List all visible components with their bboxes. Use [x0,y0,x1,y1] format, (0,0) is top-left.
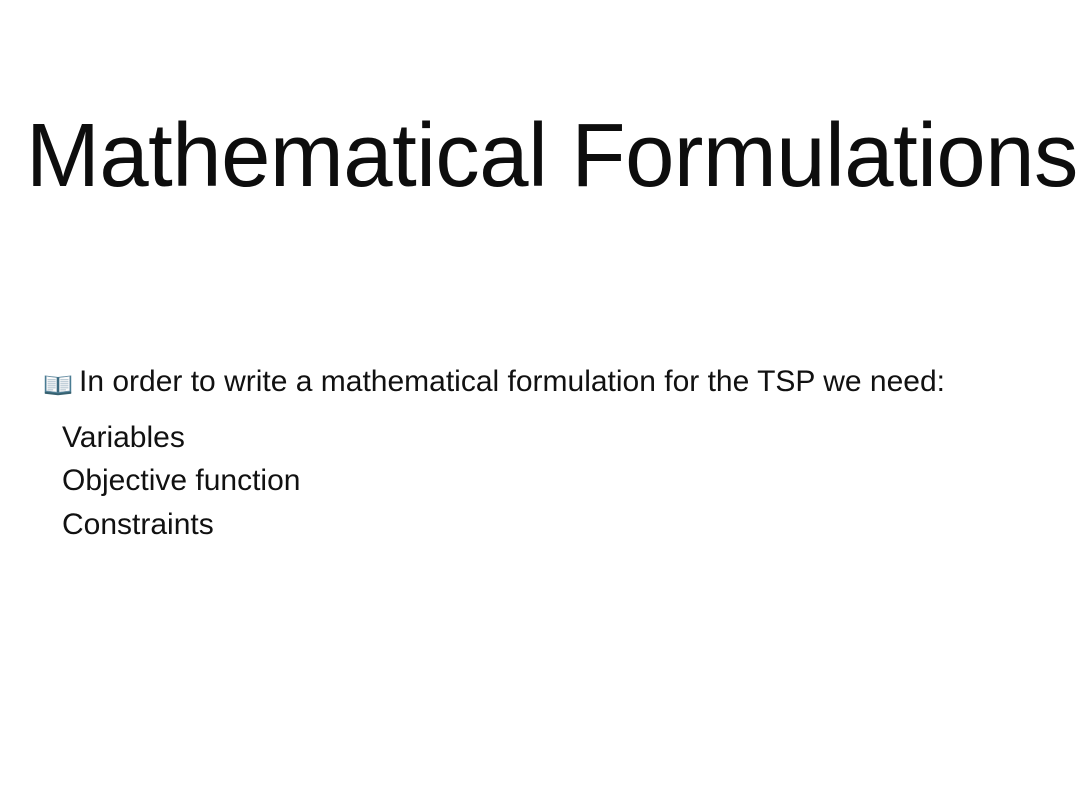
lead-paragraph: In order to write a mathematical formula… [44,362,992,402]
open-book-icon [44,367,72,391]
list-item-label: Constraints [62,508,214,541]
slide-title: Mathematical Formulations [26,106,1050,207]
slide-body: In order to write a mathematical formula… [44,362,1004,547]
presentation-slide: Mathematical Formulations [0,0,1080,810]
list-item-label: Objective function [62,464,300,497]
list-item-label: Variables [62,421,185,454]
lead-paragraph-text: In order to write a mathematical formula… [79,365,945,398]
requirements-list: Variables Objective function Constraints [44,416,1004,547]
list-item-constraints: Constraints [62,503,1004,547]
list-item-variables: Variables [62,416,1004,460]
list-item-objective-function: Objective function [62,459,1004,503]
